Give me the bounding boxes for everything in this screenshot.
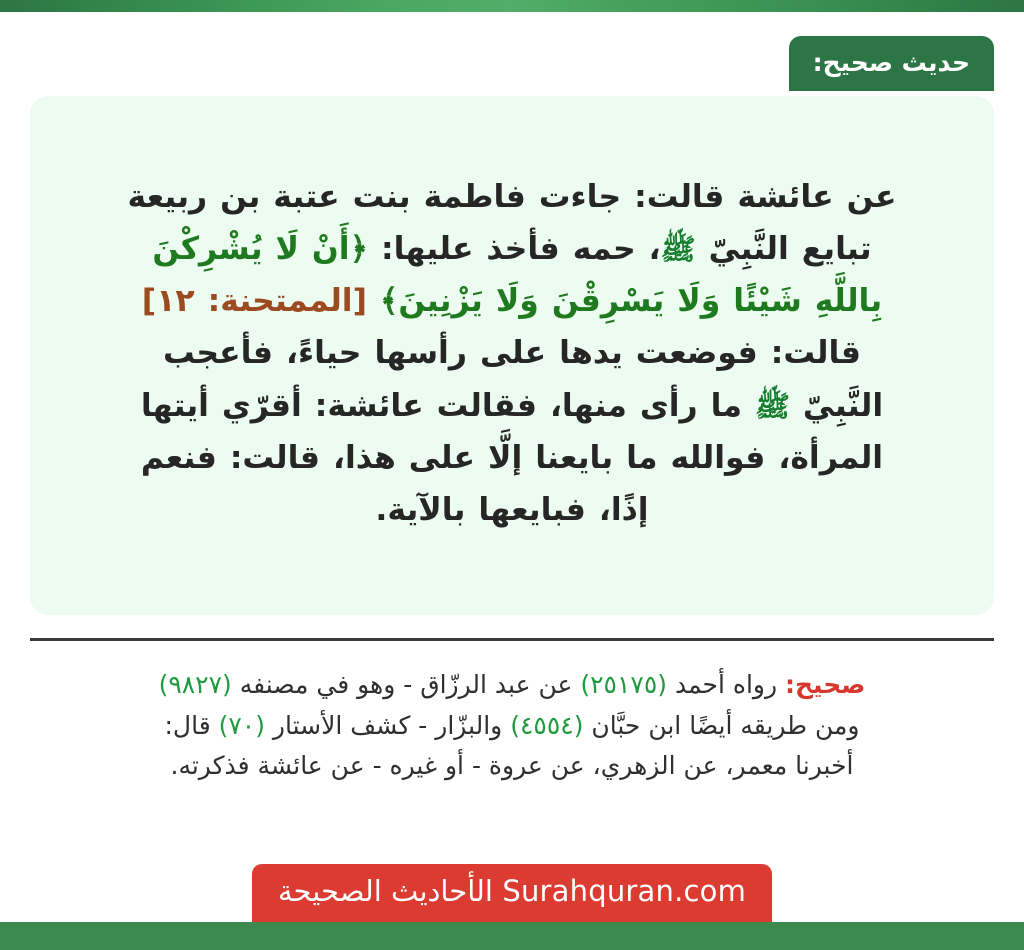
text-segment-plain: تبايع النَّبِيّ bbox=[696, 231, 872, 267]
text-segment-plain: قال: bbox=[164, 711, 218, 740]
hadith-card-page: حديث صحيح: عن عائشة قالت: جاءت فاطمة بنت… bbox=[0, 0, 1024, 950]
bottom-decorative-bar bbox=[0, 922, 1024, 950]
text-segment-plain bbox=[367, 283, 380, 319]
hadith-text-panel: عن عائشة قالت: جاءت فاطمة بنت عتبة بن رب… bbox=[30, 96, 994, 615]
text-segment-quran: ﴿أَنْ لَا يُشْرِكْنَ bbox=[152, 231, 368, 267]
source-line-3: أخبرنا معمر، عن الزهري، عن عروة - أو غير… bbox=[30, 746, 994, 787]
line-3: بِاللَّهِ شَيْئًا وَلَا يَسْرِقْنَ وَلَا… bbox=[64, 275, 960, 327]
text-segment-ref: (٢٥١٧٥) bbox=[580, 670, 667, 699]
text-segment-plain: رواه أحمد bbox=[667, 670, 785, 699]
header-badge-row: حديث صحيح: bbox=[0, 36, 1024, 91]
line-6: المرأة، فوالله ما بايعنا إلَّا على هذا، … bbox=[64, 432, 960, 484]
top-decorative-bar bbox=[0, 0, 1024, 12]
source-line-1: صحيح: رواه أحمد (٢٥١٧٥) عن عبد الرزّاق -… bbox=[30, 665, 994, 706]
source-line-2: ومن طريقه أيضًا ابن حبَّان (٤٥٥٤) والبزّ… bbox=[30, 706, 994, 747]
text-segment-ref: (٤٥٥٤) bbox=[510, 711, 583, 740]
text-segment-sallallahu: ﷺ bbox=[755, 389, 790, 423]
text-segment-ref: (٩٨٢٧) bbox=[159, 670, 232, 699]
text-segment-plain: قالت: فوضعت يدها على رأسها حياءً، فأعجب bbox=[163, 335, 861, 371]
text-segment-plain: ومن طريقه أيضًا ابن حبَّان bbox=[583, 711, 859, 740]
text-segment-plain: عن عائشة قالت: جاءت فاطمة بنت عتبة بن رب… bbox=[127, 179, 896, 215]
line-4: قالت: فوضعت يدها على رأسها حياءً، فأعجب bbox=[64, 327, 960, 379]
line-7: إذًا، فبايعها بالآية. bbox=[64, 484, 960, 536]
site-label: الأحاديث الصحيحة bbox=[278, 874, 493, 908]
text-segment-ref: (٧٠) bbox=[219, 711, 265, 740]
site-banner[interactable]: Surahquran.com الأحاديث الصحيحة bbox=[252, 864, 772, 922]
text-segment-plain: أخبرنا معمر، عن الزهري، عن عروة - أو غير… bbox=[171, 751, 854, 780]
footer-row: Surahquran.com الأحاديث الصحيحة bbox=[0, 864, 1024, 922]
text-segment-plain: إذًا، فبايعها بالآية. bbox=[375, 492, 648, 528]
line-5: النَّبِيّ ﷺ ما رأى منها، فقالت عائشة: أق… bbox=[64, 380, 960, 432]
text-segment-plain: ما رأى منها، فقالت عائشة: أقرّي أيتها bbox=[141, 388, 755, 424]
line-2: تبايع النَّبِيّ ﷺ، حمه فأخذ عليها: ﴿أَنْ… bbox=[64, 223, 960, 275]
text-segment-plain: عن عبد الرزّاق - وهو في مصنفه bbox=[232, 670, 581, 699]
line-1: عن عائشة قالت: جاءت فاطمة بنت عتبة بن رب… bbox=[64, 171, 960, 223]
section-divider bbox=[30, 638, 994, 641]
text-segment-surah-ref: [الممتحنة: ١٢] bbox=[142, 283, 367, 319]
text-segment-plain: ، حمه فأخذ عليها: bbox=[368, 231, 661, 267]
text-segment-sallallahu: ﷺ bbox=[661, 232, 696, 266]
site-url: Surahquran.com bbox=[502, 874, 746, 908]
text-segment-grade: صحيح: bbox=[785, 670, 865, 699]
hadith-source-block: صحيح: رواه أحمد (٢٥١٧٥) عن عبد الرزّاق -… bbox=[30, 665, 994, 787]
text-segment-plain: المرأة، فوالله ما بايعنا إلَّا على هذا، … bbox=[141, 440, 883, 476]
text-segment-plain: النَّبِيّ bbox=[790, 388, 883, 424]
hadith-grade-badge: حديث صحيح: bbox=[789, 36, 994, 91]
text-segment-plain: والبزّار - كشف الأستار bbox=[265, 711, 510, 740]
hadith-body-text: عن عائشة قالت: جاءت فاطمة بنت عتبة بن رب… bbox=[64, 171, 960, 537]
text-segment-quran: بِاللَّهِ شَيْئًا وَلَا يَسْرِقْنَ وَلَا… bbox=[380, 283, 882, 319]
